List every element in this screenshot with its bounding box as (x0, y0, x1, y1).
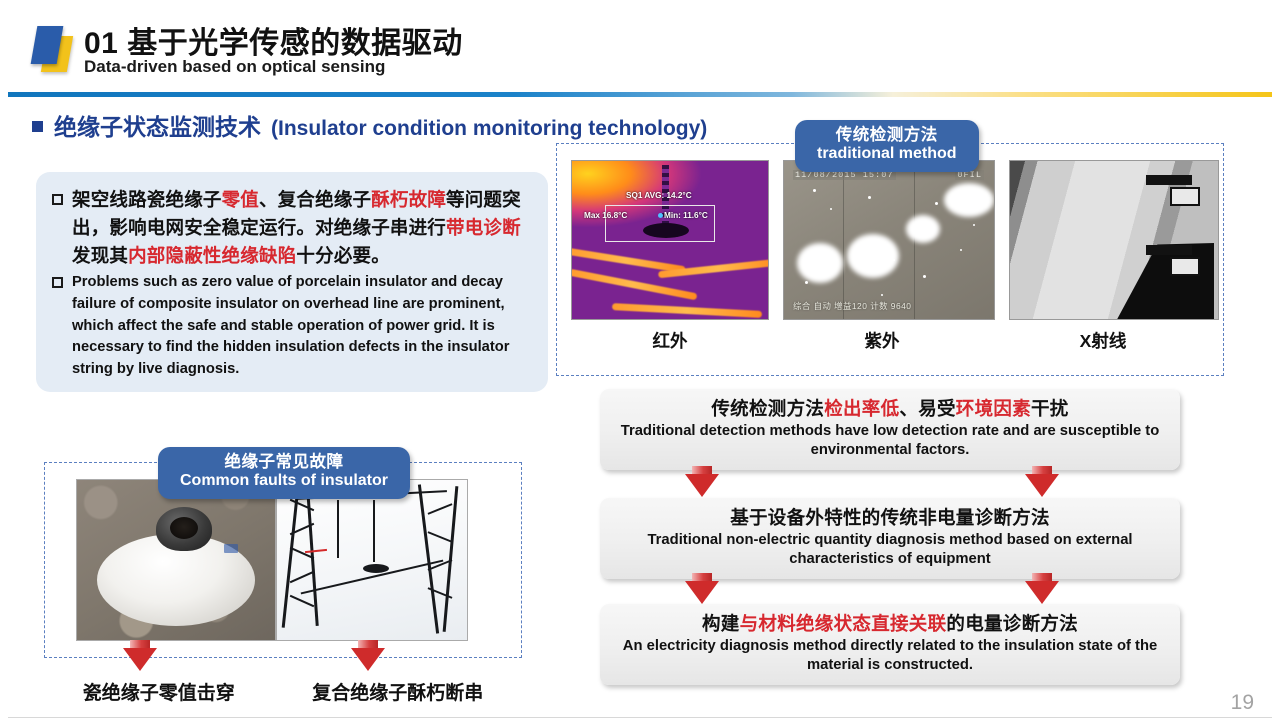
uv-status-label: 综合 自动 增益120 计数 9640 (793, 300, 911, 312)
down-arrow-icon (1025, 474, 1059, 497)
fault-images (76, 479, 468, 641)
traditional-method-label-cn: 传统检测方法 (817, 126, 957, 145)
slide-header: 01 基于光学传感的数据驱动 Data-driven based on opti… (0, 0, 1280, 90)
uv-speckle (923, 275, 926, 278)
thermal-min-label: Min: 11.6°C (664, 211, 708, 220)
caption-xray: X射线 (995, 328, 1211, 353)
description-card: 架空线路瓷绝缘子零值、复合绝缘子酥朽故障等问题突出，影响电网安全稳定运行。对绝缘… (36, 172, 548, 392)
corona-discharge-blob (797, 243, 843, 283)
slide: 01 基于光学传感的数据驱动 Data-driven based on opti… (0, 0, 1280, 723)
section-heading-en: (Insulator condition monitoring technolo… (271, 117, 707, 141)
flow-box-3-en: An electricity diagnosis method directly… (614, 637, 1166, 677)
flow-box-2-cn: 基于设备外特性的传统非电量诊断方法 (614, 505, 1166, 531)
flow-box-1-en: Traditional detection methods have low d… (614, 422, 1166, 462)
thermal-max-label: Max 16.8°C (584, 211, 627, 220)
flow-box-2-en: Traditional non-electric quantity diagno… (614, 531, 1166, 571)
uv-grid-line (843, 161, 844, 319)
fault-caption-right: 复合绝缘子酥朽断串 (312, 678, 483, 705)
transmission-tower-photo (276, 479, 468, 641)
checkbox-bullet-icon (52, 194, 63, 205)
insulator-marking (224, 544, 238, 553)
ultraviolet-image: 11/08/2015 15:07 0FIL 综合 自动 增益120 计数 964… (783, 160, 995, 320)
page-title-en: Data-driven based on optical sensing (84, 57, 385, 77)
traditional-method-label-en: traditional method (817, 145, 957, 164)
caption-infrared: 红外 (571, 328, 769, 353)
thermal-avg-label: SQ1 AVG: 14.2°C (626, 191, 692, 200)
traditional-method-label: 传统检测方法 traditional method (795, 120, 979, 172)
common-faults-label-en: Common faults of insulator (180, 472, 388, 491)
puncture-hole (170, 517, 198, 539)
flow-box-1: 传统检测方法检出率低、易受环境因素干扰 Traditional detectio… (600, 389, 1180, 470)
down-arrow-icon (685, 581, 719, 604)
description-cn-text: 架空线路瓷绝缘子零值、复合绝缘子酥朽故障等问题突出，影响电网安全稳定运行。对绝缘… (72, 186, 532, 270)
porcelain-insulator-photo (76, 479, 276, 641)
down-arrow-icon (351, 648, 385, 671)
caption-ultraviolet: 紫外 (769, 328, 995, 353)
infrared-thermal-image: SQ1 AVG: 14.2°C Max 16.8°C Min: 11.6°C (571, 160, 769, 320)
uv-speckle (868, 196, 871, 199)
down-arrow-icon (1025, 581, 1059, 604)
common-faults-label: 绝缘子常见故障 Common faults of insulator (158, 447, 410, 499)
suspension-string (337, 500, 339, 558)
page-number: 19 (1231, 691, 1254, 715)
uv-speckle (881, 294, 883, 296)
corona-discharge-blob (944, 183, 994, 217)
xray-cap-shape (1146, 245, 1192, 255)
checkbox-bullet-icon (52, 277, 63, 288)
corona-discharge-blob (906, 215, 940, 243)
square-bullet-icon (32, 121, 43, 132)
common-faults-label-cn: 绝缘子常见故障 (180, 453, 388, 472)
traditional-method-panel: SQ1 AVG: 14.2°C Max 16.8°C Min: 11.6°C (556, 143, 1224, 376)
header-divider (8, 92, 1272, 97)
xray-fitting-shape (1170, 187, 1200, 206)
insulator-assembly (363, 564, 389, 573)
flow-box-3-cn: 构建与材料绝缘状态直接关联的电量诊断方法 (614, 611, 1166, 637)
flow-box-1-cn: 传统检测方法检出率低、易受环境因素干扰 (614, 396, 1166, 422)
down-arrow-icon (685, 474, 719, 497)
xray-fitting-shape (1170, 257, 1200, 276)
suspension-string (373, 500, 375, 562)
xray-image (1009, 160, 1219, 320)
flow-box-2: 基于设备外特性的传统非电量诊断方法 Traditional non-electr… (600, 498, 1180, 579)
traditional-images: SQ1 AVG: 14.2°C Max 16.8°C Min: 11.6°C (571, 160, 1219, 320)
section-heading-cn: 绝缘子状态监测技术 (54, 108, 261, 142)
traditional-captions: 红外 紫外 X射线 (571, 328, 1211, 353)
logo-icon (30, 24, 80, 72)
xray-cap-shape (1146, 175, 1192, 185)
footer-divider (8, 717, 1272, 718)
down-arrow-icon (123, 648, 157, 671)
min-marker-icon (658, 213, 663, 218)
fault-caption-left: 瓷绝缘子零值击穿 (83, 678, 235, 705)
description-en-text: Problems such as zero value of porcelain… (72, 272, 532, 380)
fault-captions: 瓷绝缘子零值击穿 复合绝缘子酥朽断串 (44, 678, 522, 705)
page-title-cn: 01 基于光学传感的数据驱动 (84, 18, 463, 62)
description-cn-row: 架空线路瓷绝缘子零值、复合绝缘子酥朽故障等问题突出，影响电网安全稳定运行。对绝缘… (50, 186, 532, 270)
flow-box-3: 构建与材料绝缘状态直接关联的电量诊断方法 An electricity diag… (600, 604, 1180, 685)
description-en-row: Problems such as zero value of porcelain… (50, 272, 532, 380)
section-heading: 绝缘子状态监测技术 (Insulator condition monitorin… (32, 108, 707, 142)
corona-discharge-blob (847, 234, 899, 278)
